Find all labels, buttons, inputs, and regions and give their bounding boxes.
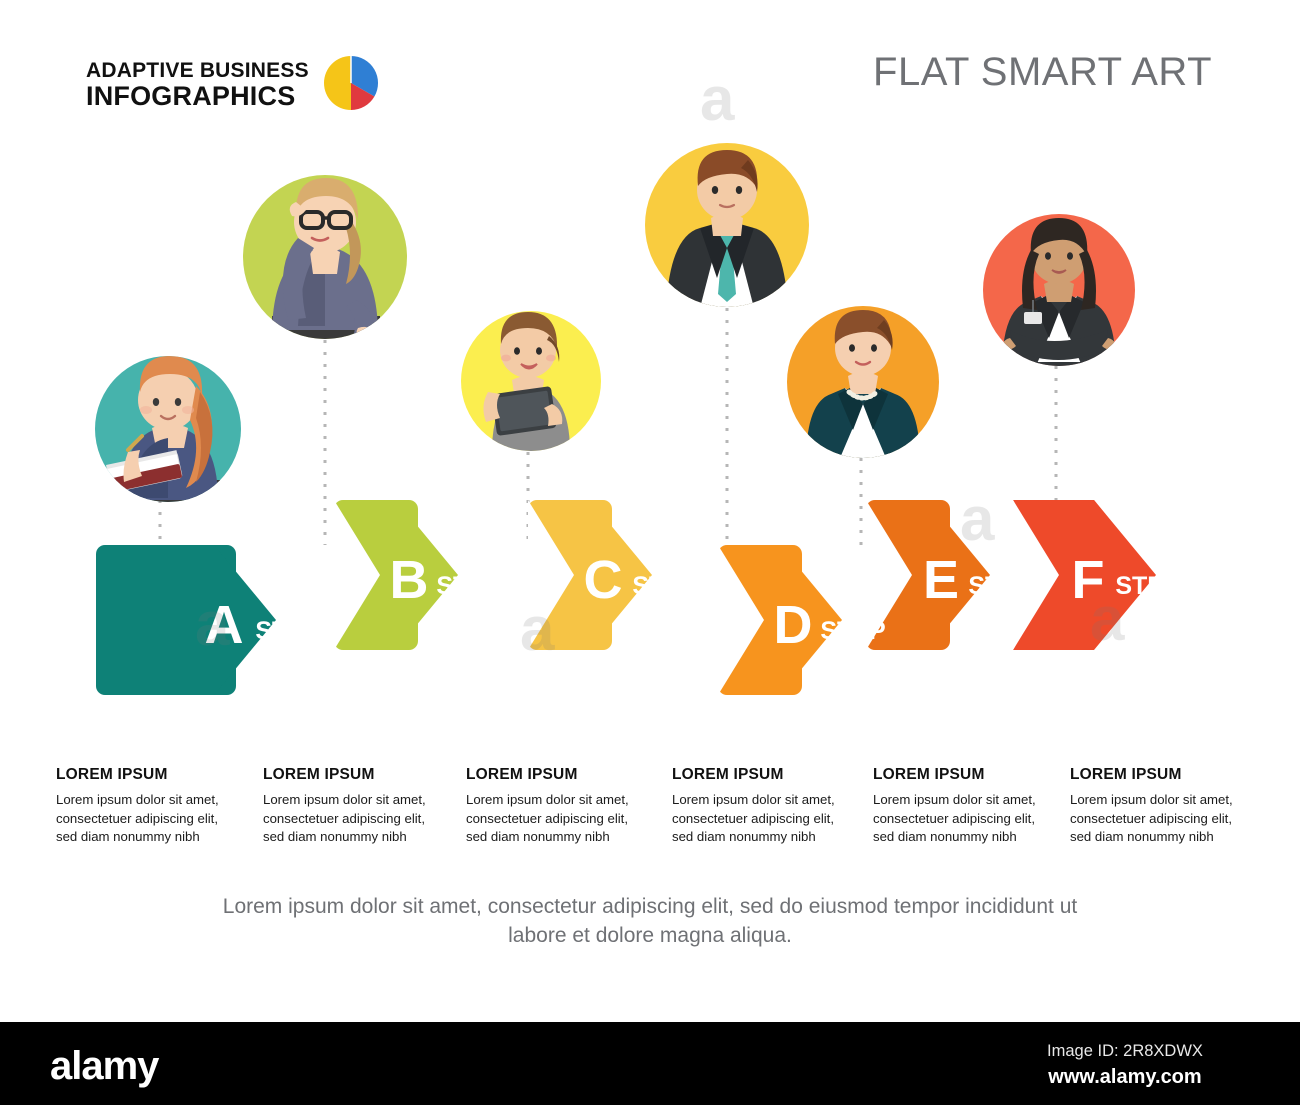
avatar-step-e xyxy=(787,306,939,462)
image-id-text: Image ID: 2R8XDWX xyxy=(1000,1042,1250,1061)
avatar-step-f xyxy=(983,214,1135,370)
caption-title: LOREM IPSUM xyxy=(672,766,858,784)
caption-body: Lorem ipsum dolor sit amet, consectetuer… xyxy=(263,791,449,847)
caption-block-d: LOREM IPSUM Lorem ipsum dolor sit amet, … xyxy=(672,766,858,847)
arrow-b-word: STEP xyxy=(436,572,501,600)
arrow-c-word: STEP xyxy=(632,572,697,600)
process-diagram: F STEP E STEP D STEP C xyxy=(0,0,1300,760)
caption-block-c: LOREM IPSUM Lorem ipsum dolor sit amet, … xyxy=(466,766,652,847)
infographic-page: ADAPTIVE BUSINESS INFOGRAPHICS FLAT SMAR… xyxy=(0,0,1300,1105)
svg-text:a: a xyxy=(960,485,995,554)
caption-body: Lorem ipsum dolor sit amet, consectetuer… xyxy=(466,791,652,847)
caption-row: LOREM IPSUM Lorem ipsum dolor sit amet, … xyxy=(0,766,1300,876)
caption-block-b: LOREM IPSUM Lorem ipsum dolor sit amet, … xyxy=(263,766,449,847)
caption-title: LOREM IPSUM xyxy=(466,766,652,784)
alamy-url[interactable]: www.alamy.com xyxy=(1000,1066,1250,1089)
caption-body: Lorem ipsum dolor sit amet, consectetuer… xyxy=(672,791,858,847)
caption-body: Lorem ipsum dolor sit amet, consectetuer… xyxy=(1070,791,1256,847)
avatar-step-b xyxy=(243,175,407,346)
caption-title: LOREM IPSUM xyxy=(56,766,242,784)
caption-body: Lorem ipsum dolor sit amet, consectetuer… xyxy=(56,791,242,847)
stock-footer-bar: alamy Image ID: 2R8XDWX www.alamy.com xyxy=(0,1022,1300,1105)
arrow-f-word: STEP xyxy=(1115,572,1180,600)
caption-title: LOREM IPSUM xyxy=(263,766,449,784)
caption-title: LOREM IPSUM xyxy=(873,766,1059,784)
svg-text:a: a xyxy=(700,65,735,134)
avatar-step-d xyxy=(645,143,809,310)
footnote-text: Lorem ipsum dolor sit amet, consectetur … xyxy=(200,893,1100,951)
avatar-step-c xyxy=(461,311,601,452)
arrow-a-word: STEP xyxy=(255,617,320,645)
svg-text:a: a xyxy=(520,595,555,664)
caption-block-a: LOREM IPSUM Lorem ipsum dolor sit amet, … xyxy=(56,766,242,847)
arrow-e-word: STEP xyxy=(968,572,1033,600)
arrow-step-d[interactable]: D STEP xyxy=(718,545,886,695)
arrow-step-e[interactable]: E STEP xyxy=(866,500,1034,650)
svg-text:a: a xyxy=(195,590,230,659)
caption-title: LOREM IPSUM xyxy=(1070,766,1256,784)
arrow-d-word: STEP xyxy=(820,617,885,645)
alamy-logo: alamy xyxy=(50,1044,158,1089)
svg-text:a: a xyxy=(1090,585,1125,654)
caption-block-e: LOREM IPSUM Lorem ipsum dolor sit amet, … xyxy=(873,766,1059,847)
caption-block-f: LOREM IPSUM Lorem ipsum dolor sit amet, … xyxy=(1070,766,1256,847)
arrow-e-letter: E xyxy=(923,550,959,610)
avatar-step-a xyxy=(95,356,241,520)
arrow-b-letter: B xyxy=(390,550,429,610)
caption-body: Lorem ipsum dolor sit amet, consectetuer… xyxy=(873,791,1059,847)
arrow-d-letter: D xyxy=(774,595,813,655)
arrow-c-letter: C xyxy=(584,550,623,610)
arrow-step-b[interactable]: B STEP xyxy=(334,500,502,650)
